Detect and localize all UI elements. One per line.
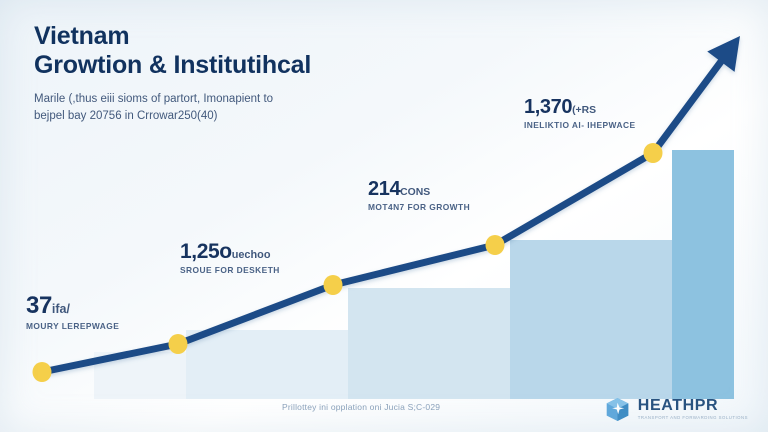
brand-logo: HEATHPR TRANSPORT AND FORWARDING SOLUTIO… bbox=[604, 396, 748, 423]
cube-airplane-icon bbox=[604, 396, 631, 423]
arrow-head-icon bbox=[707, 36, 740, 72]
title-line-2: Growtion & Institutihcal bbox=[34, 51, 554, 80]
growth-polyline bbox=[42, 153, 653, 372]
data-point-dot[interactable] bbox=[324, 275, 343, 295]
data-label-caption-1: SROUE FOR DESKETH bbox=[180, 265, 280, 275]
subtitle-line-2: bejpel bay 20756 in Crrowar250(40) bbox=[34, 108, 454, 125]
data-point-dot[interactable] bbox=[33, 362, 52, 382]
data-label-1: 1,25ouechoo SROUE FOR DESKETH bbox=[180, 240, 280, 275]
data-point-dot[interactable] bbox=[169, 334, 188, 354]
data-label-suffix-2: CONS bbox=[400, 187, 430, 198]
data-label-caption-0: MOURY LEREPWAGE bbox=[26, 321, 119, 331]
subtitle-line-1: Marile (,thus eiii sioms of partort, Imo… bbox=[34, 91, 454, 108]
data-label-value-0: 37ifa/ bbox=[26, 292, 119, 320]
footnote: Prillottey ini opplation oni Jucia S;C-0… bbox=[282, 402, 440, 412]
data-label-caption-3: INELIKTIO AI- IHEPWACE bbox=[524, 120, 636, 130]
brand-name: HEATHPR bbox=[638, 398, 748, 414]
data-label-suffix-0: ifa/ bbox=[52, 302, 70, 316]
data-label-3: 1,370(+RS INELIKTIO AI- IHEPWACE bbox=[524, 96, 636, 130]
data-label-2: 214CONS MOT4N7 FOR GROWTH bbox=[368, 178, 470, 212]
data-label-value-3: 1,370(+RS bbox=[524, 96, 636, 119]
brand-tagline: TRANSPORT AND FORWARDING SOLUTIONS bbox=[638, 416, 748, 420]
page-title: Vietnam Growtion & Institutihcal bbox=[34, 22, 554, 80]
data-point-dot[interactable] bbox=[644, 143, 663, 163]
data-label-suffix-1: uechoo bbox=[232, 249, 271, 261]
data-label-suffix-3: (+RS bbox=[572, 105, 596, 116]
heading-block: Vietnam Growtion & Institutihcal Marile … bbox=[34, 22, 554, 125]
data-point-dot[interactable] bbox=[486, 235, 505, 255]
data-label-value-1: 1,25ouechoo bbox=[180, 240, 280, 264]
arrow-shaft bbox=[653, 57, 724, 153]
page-subtitle: Marile (,thus eiii sioms of partort, Imo… bbox=[34, 91, 454, 125]
infographic-card: Vietnam Growtion & Institutihcal Marile … bbox=[0, 0, 768, 432]
data-label-value-2: 214CONS bbox=[368, 178, 470, 201]
title-line-1: Vietnam bbox=[34, 22, 554, 51]
data-label-0: 37ifa/ MOURY LEREPWAGE bbox=[26, 292, 119, 331]
data-label-caption-2: MOT4N7 FOR GROWTH bbox=[368, 202, 470, 212]
data-point-dots bbox=[33, 143, 663, 382]
